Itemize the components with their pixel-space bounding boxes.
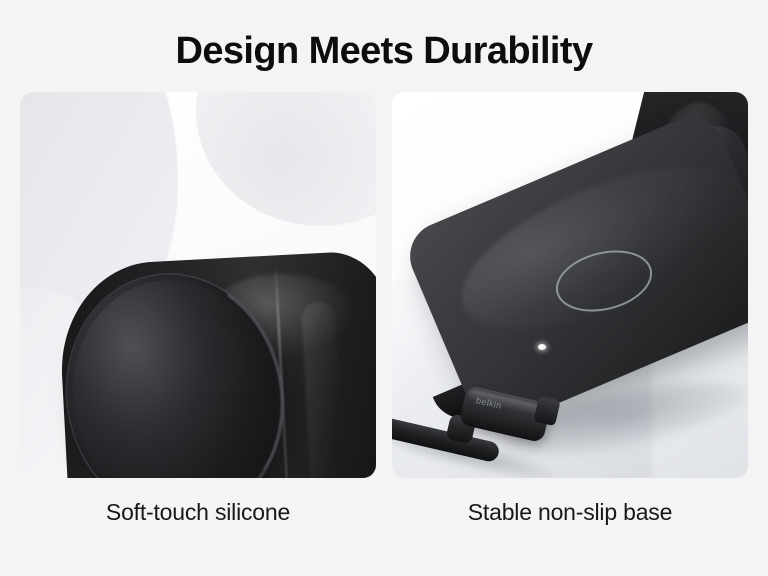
background-wash-top-right: [196, 92, 376, 226]
product-image-soft-touch-silicone[interactable]: [20, 92, 376, 478]
caption-stable-non-slip-base: Stable non-slip base: [392, 498, 748, 526]
product-image-stable-non-slip-base[interactable]: belkin: [392, 92, 748, 478]
panel-row: belkin: [20, 92, 748, 478]
product-feature-page: Design Meets Durability: [0, 0, 768, 576]
page-title: Design Meets Durability: [0, 28, 768, 74]
caption-soft-touch-silicone: Soft-touch silicone: [20, 498, 376, 526]
caption-row: Soft-touch silicone Stable non-slip base: [20, 498, 748, 526]
led-indicator: [538, 344, 546, 350]
